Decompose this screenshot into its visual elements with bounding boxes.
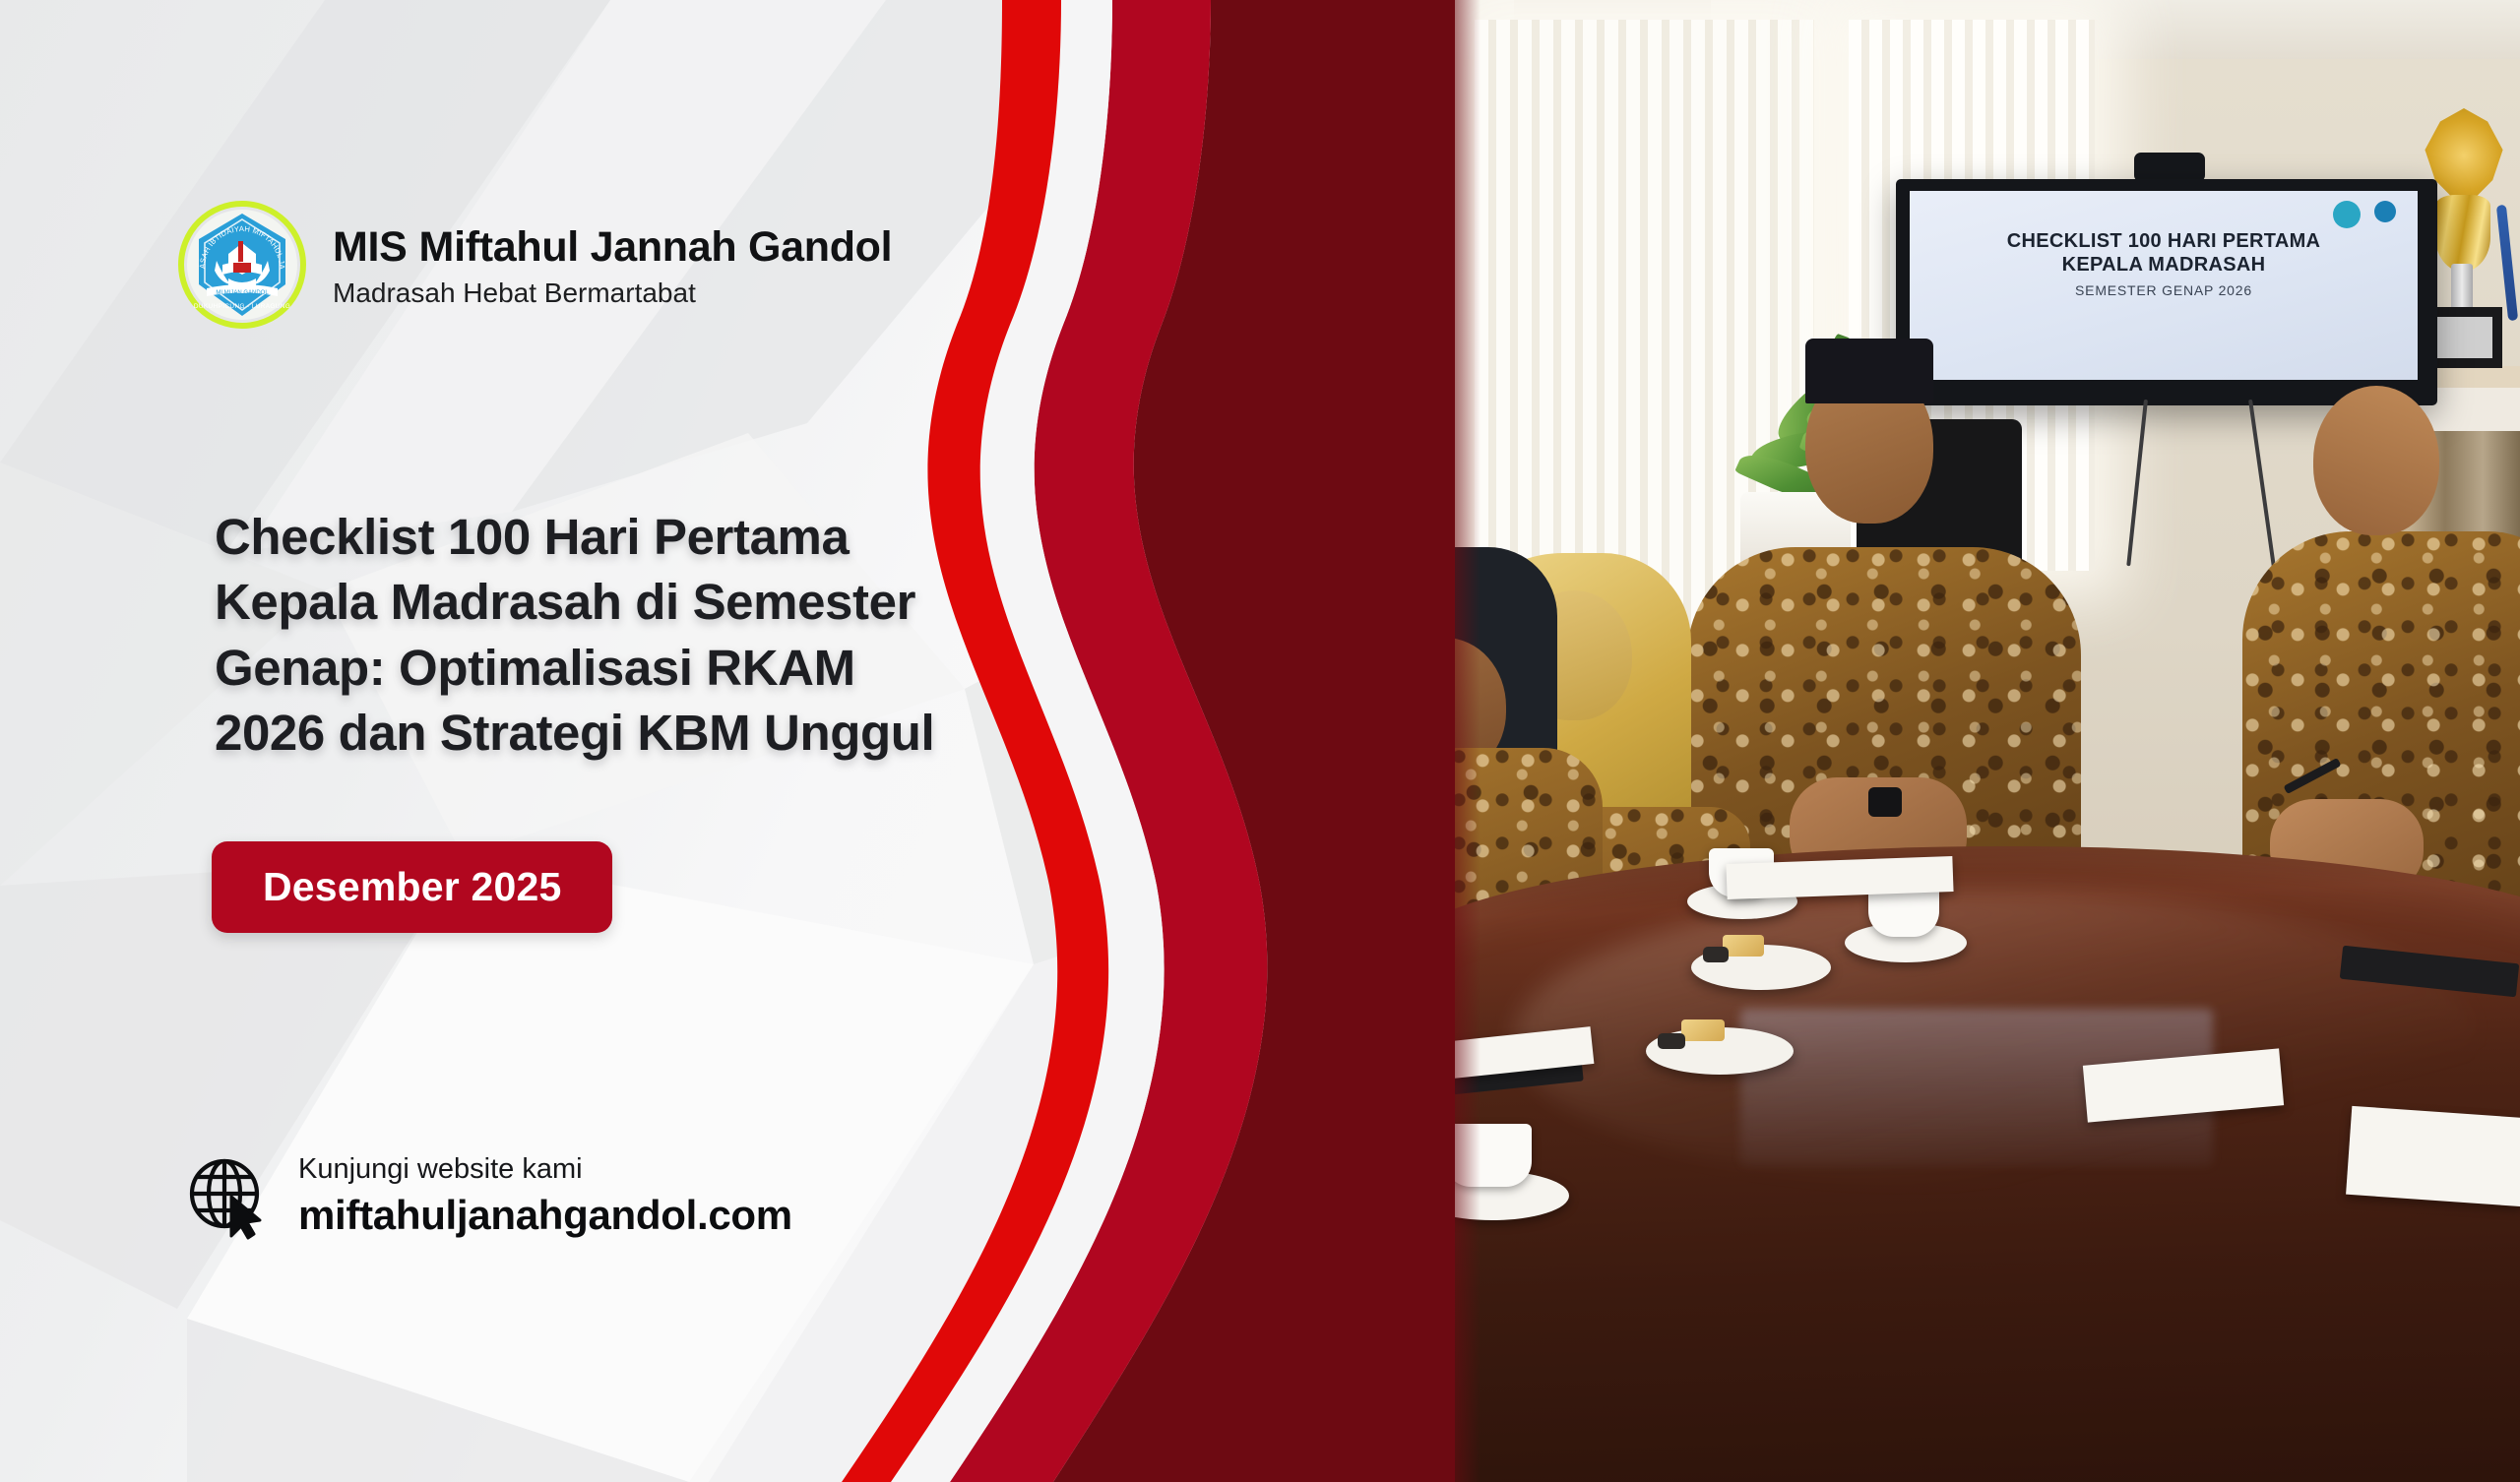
website-url: miftahuljanahgandol.com xyxy=(298,1192,792,1239)
photo-left-fade xyxy=(1455,0,1480,1482)
headline-line-4: 2026 dan Strategi KBM Unggul xyxy=(215,701,1081,766)
headline-line-2: Kepala Madrasah di Semester xyxy=(215,570,1081,635)
kemenag-logo-icon xyxy=(2333,201,2361,228)
globe-cursor-icon xyxy=(182,1149,275,1242)
screen-line-3: SEMESTER GENAP 2026 xyxy=(2075,282,2252,298)
person-center-peci-icon xyxy=(1805,339,1933,403)
brand-name: Miftahul Jannah Gandol xyxy=(419,223,893,271)
screen-line-1: CHECKLIST 100 HARI PERTAMA xyxy=(2007,230,2321,254)
notebook xyxy=(2346,1106,2520,1206)
trophy-cup xyxy=(2435,195,2490,272)
svg-text:MI MIJAN GANDOL: MI MIJAN GANDOL xyxy=(216,290,269,296)
svg-text:DUKUHPICUNG - LURAGUNG: DUKUHPICUNG - LURAGUNG xyxy=(194,303,290,310)
madrasah-logo-icon xyxy=(2374,201,2396,222)
person-right-head xyxy=(2313,386,2439,535)
date-badge-label: Desember 2025 xyxy=(263,864,561,910)
website-caption: Kunjungi website kami xyxy=(298,1152,792,1187)
brand-tagline: Madrasah Hebat Bermartabat xyxy=(333,277,892,310)
website-footer[interactable]: Kunjungi website kami miftahuljanahgando… xyxy=(182,1149,792,1242)
wristwatch-icon xyxy=(1868,787,1902,817)
headline-line-1: Checklist 100 Hari Pertama xyxy=(215,505,1081,570)
brand-lockup: MADRASAH IBTIDAIYAH MIFTAHUL JANNAH MI M… xyxy=(177,200,892,330)
poster-canvas: MADRASAH IBTIDAIYAH MIFTAHUL JANNAH MI M… xyxy=(0,0,2520,1482)
screen-line-2: KEPALA MADRASAH xyxy=(2062,254,2266,278)
presentation-screen: CHECKLIST 100 HARI PERTAMA KEPALA MADRAS… xyxy=(1910,191,2418,380)
website-text-block: Kunjungi website kami miftahuljanahgando… xyxy=(298,1152,792,1239)
date-badge: Desember 2025 xyxy=(212,841,612,933)
brand-prefix: MIS xyxy=(333,223,408,271)
meeting-room-photo: CHECKLIST 100 HARI PERTAMA KEPALA MADRAS… xyxy=(1455,0,2520,1482)
snack xyxy=(1723,935,1764,957)
brand-title: MISMiftahul Jannah Gandol xyxy=(333,223,892,271)
headline-line-3: Genap: Optimalisasi RKAM xyxy=(215,636,1081,701)
trophy-stem xyxy=(2451,264,2473,311)
trophy-plaque xyxy=(2431,317,2492,358)
snack xyxy=(1681,1019,1725,1041)
screen-logos xyxy=(2333,201,2396,228)
snack xyxy=(1658,1033,1685,1049)
page-title: Checklist 100 Hari Pertama Kepala Madras… xyxy=(215,505,1081,766)
snack xyxy=(1703,947,1729,962)
brand-text-block: MISMiftahul Jannah Gandol Madrasah Hebat… xyxy=(333,219,892,310)
school-emblem-icon: MADRASAH IBTIDAIYAH MIFTAHUL JANNAH MI M… xyxy=(177,200,307,330)
